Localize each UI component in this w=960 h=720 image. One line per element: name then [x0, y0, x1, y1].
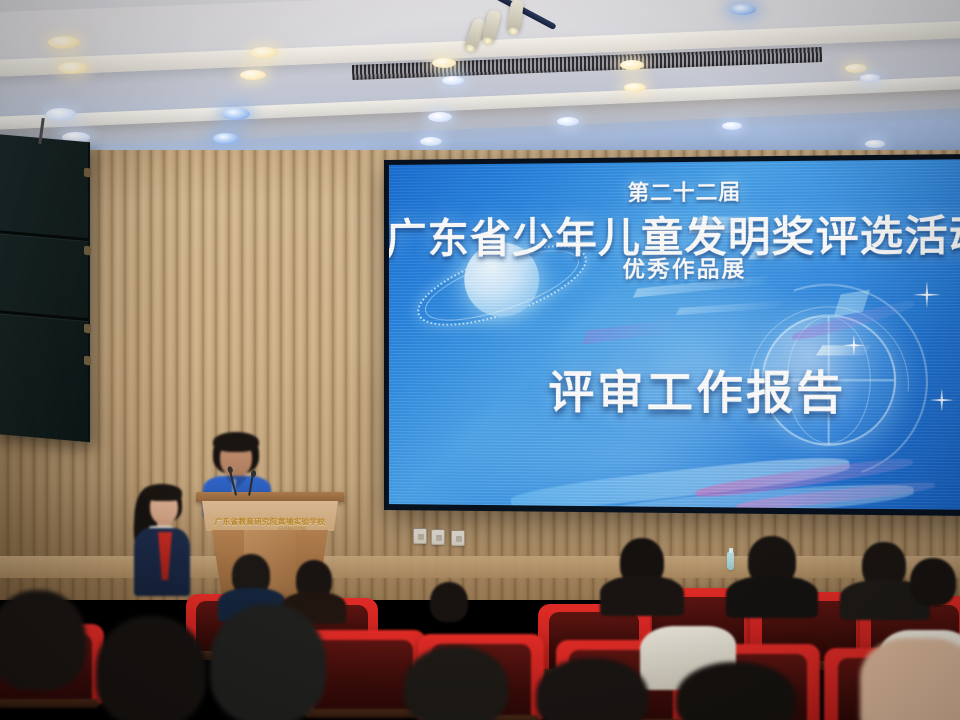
downlight-icon: [620, 60, 644, 70]
audience-seating: [0, 520, 960, 720]
line-array-speaker: [0, 134, 90, 443]
audience-head: [910, 558, 956, 606]
downlight-icon: [557, 117, 579, 126]
downlight-icon: [845, 64, 867, 73]
downlight-icon: [420, 137, 442, 146]
audience-head: [0, 590, 86, 690]
downlight-icon: [860, 74, 880, 82]
audience-head: [404, 646, 508, 720]
audience-head: [430, 582, 468, 622]
downlight-icon: [428, 112, 452, 122]
downlight-icon: [432, 58, 456, 68]
downlight-icon: [865, 140, 885, 148]
audience-head: [210, 604, 326, 720]
speaker-rigging-point: [84, 356, 91, 366]
downlight-icon: [722, 122, 742, 130]
sparkle-icon: [843, 335, 864, 356]
screen-report-title: 评审工作报告: [548, 355, 846, 422]
ceiling: [0, 0, 960, 175]
lighting-track-rig: [455, 0, 575, 64]
spotlight-icon: [481, 9, 501, 43]
sparkle-icon: [913, 281, 941, 308]
downlight-icon: [624, 83, 646, 92]
audience-head: [96, 616, 206, 720]
speaker-rigging-point: [84, 168, 91, 178]
speaker-divider: [0, 310, 88, 321]
audience-shoulders: [726, 576, 818, 618]
water-bottle: [727, 552, 734, 570]
screen-content: 第二十二届 广东省少年儿童发明奖评选活动 优秀作品展 评审工作报告: [389, 159, 960, 510]
speaker-rigging-point: [84, 246, 91, 256]
downlight-icon: [442, 76, 464, 85]
downlight-icon: [222, 108, 250, 120]
presenter-hair-front: [213, 432, 259, 452]
downlight-icon: [213, 133, 239, 144]
speaker-rigging-point: [84, 324, 91, 334]
downlight-icon: [240, 70, 266, 80]
downlight-icon: [730, 4, 756, 15]
student-bangs: [142, 484, 182, 501]
led-display-screen: 第二十二届 广东省少年儿童发明奖评选活动 优秀作品展 评审工作报告: [384, 154, 960, 516]
downlight-icon: [250, 47, 278, 58]
spotlight-icon: [507, 0, 524, 33]
speaker-divider: [0, 230, 88, 241]
downlight-icon: [48, 36, 80, 49]
auditorium-photo: 第二十二届 广东省少年儿童发明奖评选活动 优秀作品展 评审工作报告 广东省教育研…: [0, 0, 960, 720]
audience-shoulders: [600, 576, 684, 616]
audience-head: [536, 658, 648, 720]
downlight-icon: [58, 62, 88, 74]
downlight-icon: [46, 108, 76, 120]
sparkle-icon: [930, 389, 953, 412]
audience-head: [860, 638, 960, 720]
podium-top-surface: [196, 492, 344, 502]
screen-subtitle: 优秀作品展: [622, 251, 746, 284]
